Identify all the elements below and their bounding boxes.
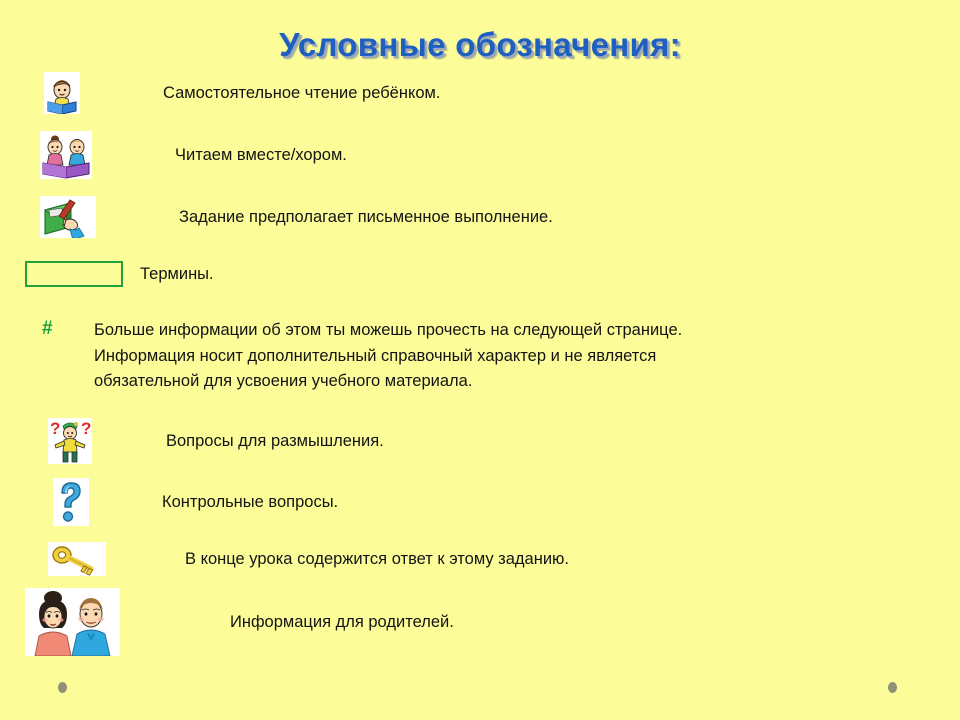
boy-with-question-marks-icon: ? ? <box>48 418 92 464</box>
legend-text-think: Вопросы для размышления. <box>166 432 384 451</box>
two-children-reading-icon <box>40 131 92 179</box>
legend-text-together: Читаем вместе/хором. <box>175 146 347 165</box>
notebook-and-pencil-icon <box>40 196 96 238</box>
paragraph-line-1: Больше информации об этом ты можешь проч… <box>94 318 682 344</box>
paragraph-line-2: Информация носит дополнительный справочн… <box>94 344 682 370</box>
bottom-dot-right <box>888 682 897 693</box>
legend-row-key: В конце урока содержится ответ к этому з… <box>48 542 569 576</box>
legend-row-self-read: Самостоятельное чтение ребёнком. <box>44 72 440 114</box>
legend-text-key: В конце урока содержится ответ к этому з… <box>185 550 569 569</box>
legend-text-terms: Термины. <box>140 265 214 284</box>
legend-row-terms: Термины. <box>25 261 214 287</box>
legend-text-parents: Информация для родителей. <box>230 613 454 632</box>
legend-paragraph-more-info: Больше информации об этом ты можешь проч… <box>94 318 682 395</box>
slide-canvas: Условные обозначения: Самостоятельное чт… <box>0 0 960 720</box>
hash-icon: # <box>42 318 94 340</box>
legend-row-think: ? ? Вопросы для размышления. <box>48 418 384 464</box>
page-title: Условные обозначения: <box>0 26 960 64</box>
svg-text:?: ? <box>50 419 60 438</box>
legend-text-written: Задание предполагает письменное выполнен… <box>179 208 553 227</box>
legend-row-written: Задание предполагает письменное выполнен… <box>40 196 553 238</box>
parents-couple-icon <box>25 588 120 656</box>
legend-row-parents: Информация для родителей. <box>25 588 454 656</box>
svg-text:?: ? <box>81 419 91 438</box>
legend-row-more-info: # Больше информации об этом ты можешь пр… <box>42 318 682 395</box>
gold-key-icon <box>48 542 106 576</box>
legend-row-together: Читаем вместе/хором. <box>40 131 347 179</box>
blue-question-mark-icon <box>53 478 89 526</box>
paragraph-line-3: обязательной для усвоения учебного матер… <box>94 369 682 395</box>
legend-text-self-read: Самостоятельное чтение ребёнком. <box>163 84 440 103</box>
green-rectangle-icon <box>25 261 123 287</box>
legend-row-control: Контрольные вопросы. <box>53 478 338 526</box>
legend-text-control: Контрольные вопросы. <box>162 493 338 512</box>
bottom-dot-left <box>58 682 67 693</box>
child-reading-book-icon <box>44 72 80 114</box>
